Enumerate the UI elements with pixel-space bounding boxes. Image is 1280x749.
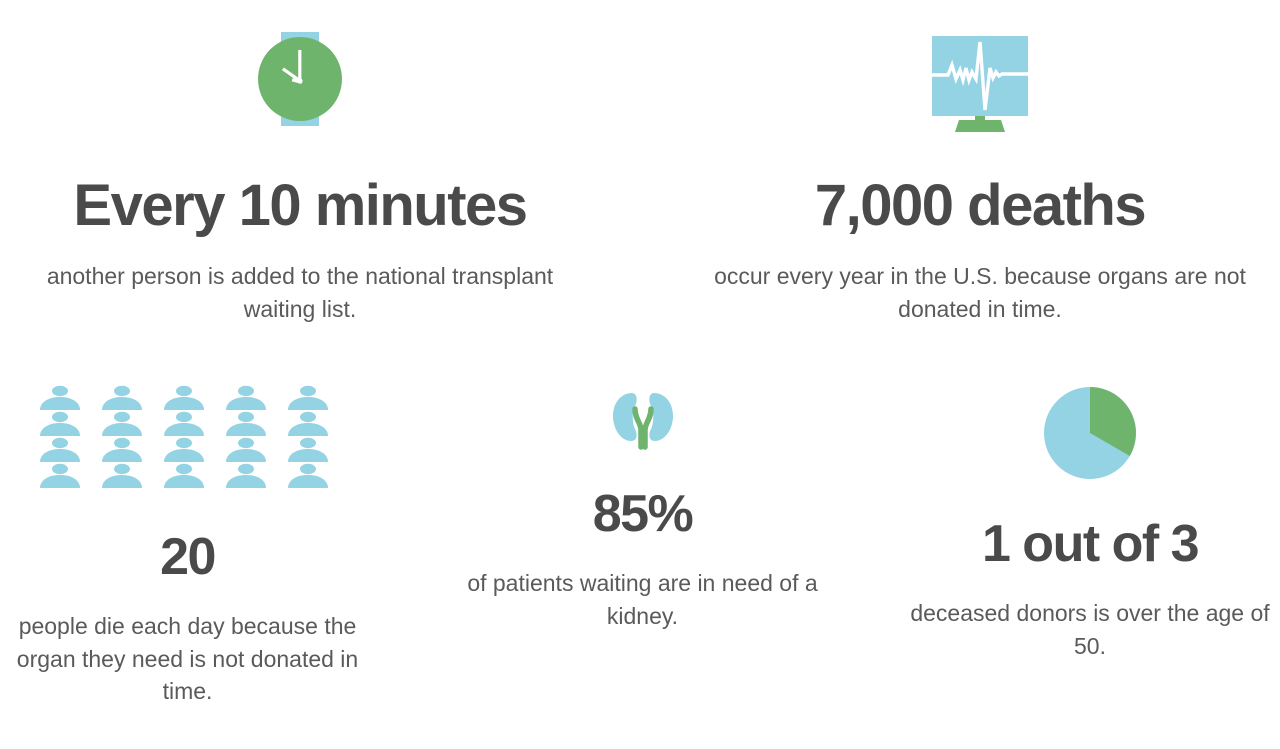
person-icon — [162, 385, 206, 411]
body-1-out-of-3: deceased donors is over the age of 50. — [910, 597, 1270, 662]
person-icon — [286, 463, 330, 489]
person-icon — [38, 385, 82, 411]
headline-every-10-minutes: Every 10 minutes — [73, 177, 526, 235]
body-85-percent: of patients waiting are in need of a kid… — [458, 567, 828, 632]
headline-20: 20 — [160, 531, 215, 583]
wristwatch-clock-icon — [245, 24, 355, 139]
body-20-people: people die each day because the organ th… — [8, 610, 368, 708]
person-icon — [162, 411, 206, 437]
person-icon — [100, 463, 144, 489]
stat-block-every-10-minutes: Every 10 minutes another person is added… — [0, 24, 600, 325]
body-7000-deaths: occur every year in the U.S. because org… — [700, 260, 1260, 325]
person-icon — [100, 411, 144, 437]
stat-block-7000-deaths: 7,000 deaths occur every year in the U.S… — [680, 24, 1280, 325]
infographic-canvas: Every 10 minutes another person is added… — [0, 0, 1280, 749]
pie-chart-icon — [1042, 385, 1138, 486]
person-icon — [286, 437, 330, 463]
person-icon — [100, 385, 144, 411]
heart-monitor-icon — [925, 24, 1035, 139]
stat-block-20-people: 20 people die each day because the organ… — [0, 385, 375, 708]
person-icon — [162, 463, 206, 489]
headline-85-percent: 85% — [593, 488, 693, 540]
headline-7000-deaths: 7,000 deaths — [815, 177, 1145, 235]
person-icon — [224, 463, 268, 489]
person-icon — [100, 437, 144, 463]
person-icon — [286, 411, 330, 437]
people-grid-icon — [38, 385, 348, 489]
person-icon — [224, 411, 268, 437]
body-every-10-minutes: another person is added to the national … — [40, 260, 560, 325]
stat-block-85-percent: 85% of patients waiting are in need of a… — [445, 385, 840, 632]
person-icon — [162, 437, 206, 463]
stat-block-1-out-of-3: 1 out of 3 deceased donors is over the a… — [900, 385, 1280, 662]
person-icon — [38, 437, 82, 463]
person-icon — [224, 385, 268, 411]
person-icon — [224, 437, 268, 463]
kidneys-icon — [608, 385, 678, 456]
person-icon — [38, 463, 82, 489]
headline-1-out-of-3: 1 out of 3 — [982, 518, 1198, 570]
person-icon — [38, 411, 82, 437]
person-icon — [286, 385, 330, 411]
